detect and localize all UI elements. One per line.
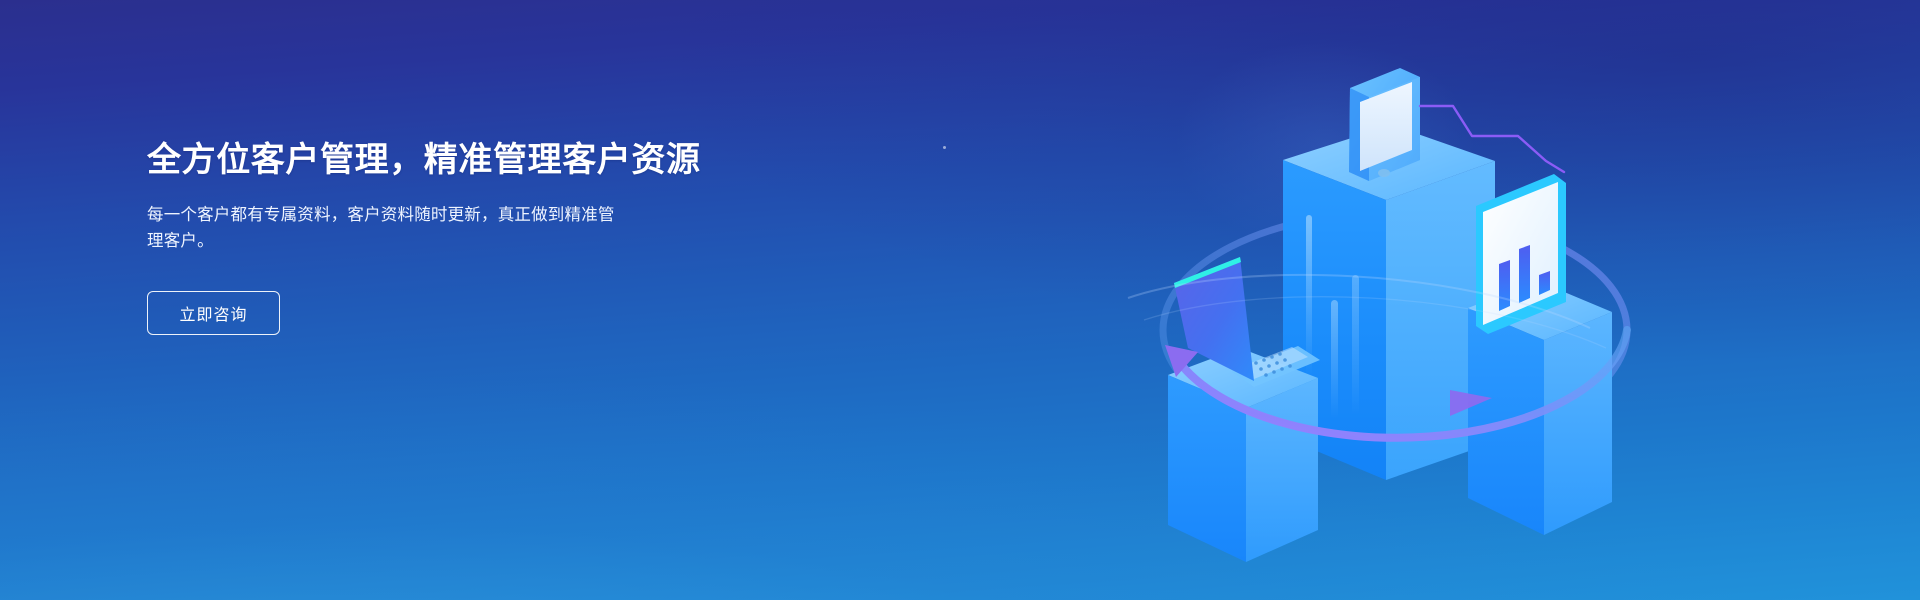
hero-banner: 全方位客户管理，精准管理客户资源 每一个客户都有专属资料，客户资料随时更新，真正… [0, 0, 1920, 600]
sparkle-dot-icon [943, 146, 946, 149]
hero-illustration [1120, 30, 1680, 570]
isometric-devices-podium-icon [1120, 30, 1680, 570]
hero-copy-block: 全方位客户管理，精准管理客户资源 每一个客户都有专属资料，客户资料随时更新，真正… [147, 140, 787, 335]
page-title: 全方位客户管理，精准管理客户资源 [147, 140, 787, 180]
tablet-icon [1349, 68, 1420, 181]
consult-now-button[interactable]: 立即咨询 [147, 291, 280, 335]
hero-subtitle: 每一个客户都有专属资料，客户资料随时更新，真正做到精准管理客户。 [147, 202, 625, 254]
